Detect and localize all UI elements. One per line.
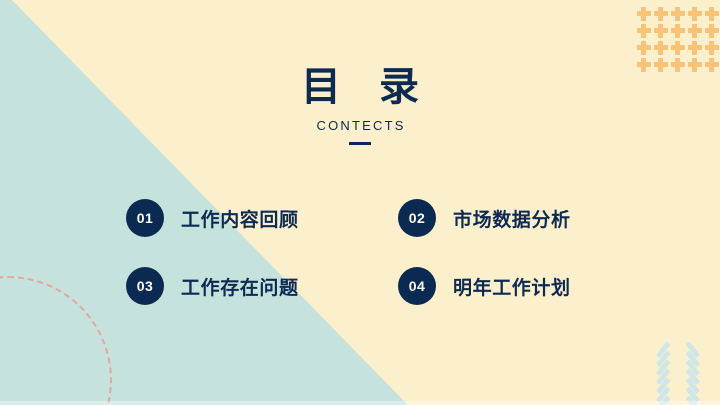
page-title: 目 录 [0, 62, 720, 112]
contents-list: 01 工作内容回顾 02 市场数据分析 03 工作存在问题 04 明年工作计划 [126, 184, 596, 320]
plus-icon [704, 6, 720, 22]
contents-number-badge: 01 [126, 199, 164, 237]
plus-icon [687, 6, 703, 22]
title-underline-rule [349, 142, 371, 145]
contents-number-badge: 03 [126, 267, 164, 305]
plus-icon [636, 23, 652, 39]
plus-icon [636, 40, 652, 56]
plus-icon [653, 23, 669, 39]
bottom-edge-strip [0, 401, 720, 405]
contents-item-label: 明年工作计划 [453, 273, 571, 300]
contents-item-02[interactable]: 02 市场数据分析 [398, 184, 596, 252]
contents-item-04[interactable]: 04 明年工作计划 [398, 252, 596, 320]
plus-icon [636, 6, 652, 22]
contents-number-badge: 02 [398, 199, 436, 237]
plus-icon [704, 23, 720, 39]
contents-item-label: 工作存在问题 [181, 273, 299, 300]
chevron-stack-decoration [657, 343, 699, 405]
contents-item-label: 市场数据分析 [453, 205, 571, 232]
slide-canvas: 目 录 CONTECTS 01 工作内容回顾 02 市场数据分析 03 工作存在… [0, 0, 720, 405]
plus-icon [687, 23, 703, 39]
slide-header: 目 录 CONTECTS [0, 62, 720, 145]
contents-item-label: 工作内容回顾 [181, 205, 299, 232]
contents-number-badge: 04 [398, 267, 436, 305]
page-subtitle: CONTECTS [0, 118, 720, 134]
contents-item-03[interactable]: 03 工作存在问题 [126, 252, 398, 320]
contents-item-01[interactable]: 01 工作内容回顾 [126, 184, 398, 252]
plus-icon [670, 6, 686, 22]
plus-icon [704, 40, 720, 56]
plus-icon [670, 40, 686, 56]
plus-icon [653, 40, 669, 56]
plus-icon [653, 6, 669, 22]
plus-icon [687, 40, 703, 56]
plus-icon [670, 23, 686, 39]
